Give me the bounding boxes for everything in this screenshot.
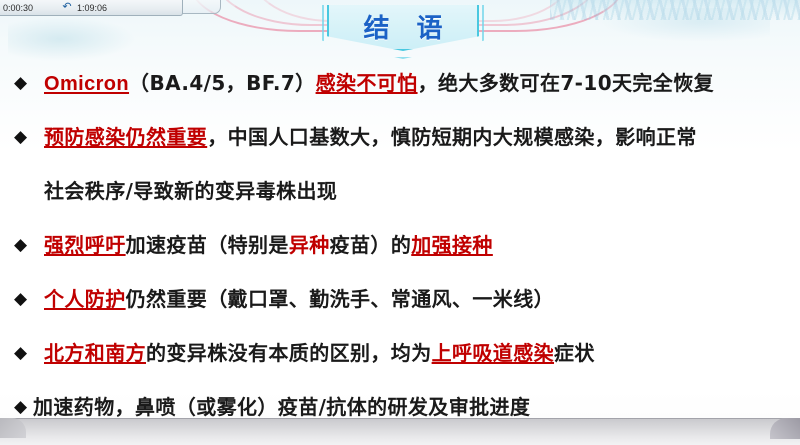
emphasis-text-run: 加强接种 [411,233,493,257]
player-topbar-filler [125,0,182,15]
text-run: 的变异株没有本质的区别，均为 [146,341,432,365]
bullet-text: Omicron（BA.4/5，BF.7）感染不可怕，绝大多数可在7-10天完全恢… [44,68,800,99]
bullet-text: 强烈呼吁加速疫苗（特别是异种疫苗）的加强接种 [44,230,800,260]
text-run: 症状 [554,341,595,365]
text-run: 加速疫苗（特别是 [126,233,289,257]
slide-title-banner: 结 语 [327,5,479,51]
player-control-bar[interactable] [0,418,800,445]
bullet-marker-icon: ◆ [14,230,44,260]
slide-bullet-list: ◆Omicron（BA.4/5，BF.7）感染不可怕，绝大多数可在7-10天完全… [0,68,800,442]
bullet-row: 社会秩序/导致新的变异毒株出现 [0,176,800,230]
rewind-icon[interactable]: ↶ [57,2,77,13]
emphasis-text-run: 北方和南方 [44,341,146,365]
bullet-marker-icon: ◆ [14,284,44,314]
bullet-text: 个人防护仍然重要（戴口罩、勤洗手、常通风、一米线） [44,284,800,314]
bullet-marker-icon: ◆ [14,338,44,368]
decorative-glow-left [8,16,138,62]
total-time-label: 1:09:06 [77,3,125,13]
emphasis-text-run: 感染不可怕 [316,71,418,95]
emphasis-text-run: 上呼吸道感染 [432,341,554,365]
bullet-row: ◆北方和南方的变异株没有本质的区别，均为上呼吸道感染症状 [0,338,800,392]
player-bar-edge [0,418,800,419]
bullet-text: 社会秩序/导致新的变异毒株出现 [44,176,800,206]
text-run: 社会秩序/导致新的变异毒株出现 [44,179,337,203]
video-slide-viewer: 结 语 ◆Omicron（BA.4/5，BF.7）感染不可怕，绝大多数可在7-1… [0,0,800,445]
emphasis-text-run: Omicron [44,73,129,95]
text-run: 加速药物，鼻喷（或雾化）疫苗/抗体的研发及审批进度 [33,395,530,419]
text-run: （BA.4/5，BF.7） [129,71,316,95]
emphasis-text-run: 个人防护 [44,287,126,311]
bullet-marker-icon: ◆ [14,68,44,98]
emphasis-text-run: 强烈呼吁 [44,233,126,257]
bullet-text: 预防感染仍然重要，中国人口基数大，慎防短期内大规模感染，影响正常 [44,122,800,152]
emphasis-text-run: 预防感染仍然重要 [44,125,207,149]
bullet-row: ◆强烈呼吁加速疫苗（特别是异种疫苗）的加强接种 [0,230,800,284]
bullet-row: ◆Omicron（BA.4/5，BF.7）感染不可怕，绝大多数可在7-10天完全… [0,68,800,122]
text-run: ，中国人口基数大，慎防短期内大规模感染，影响正常 [207,125,697,149]
elapsed-time-label: 0:00:30 [0,3,57,13]
player-left-knob[interactable] [0,418,26,438]
text-run: 疫苗）的 [330,233,412,257]
bullet-text: 北方和南方的变异株没有本质的区别，均为上呼吸道感染症状 [44,338,800,368]
bullet-row: ◆预防感染仍然重要，中国人口基数大，慎防短期内大规模感染，影响正常 [0,122,800,176]
emphasis-text-run: 异种 [289,233,330,257]
text-run: 仍然重要（戴口罩、勤洗手、常通风、一米线） [126,287,554,311]
player-time-overlay[interactable]: 0:00:30 ↶ 1:09:06 [0,0,183,16]
page-title: 结 语 [327,8,479,45]
bullet-row: ◆个人防护仍然重要（戴口罩、勤洗手、常通风、一米线） [0,284,800,338]
player-right-knob[interactable] [770,418,800,439]
decorative-glow-right [600,8,770,42]
text-run: ，绝大多数可在7-10天完全恢复 [418,71,714,95]
bullet-marker-icon: ◆ [14,122,44,152]
